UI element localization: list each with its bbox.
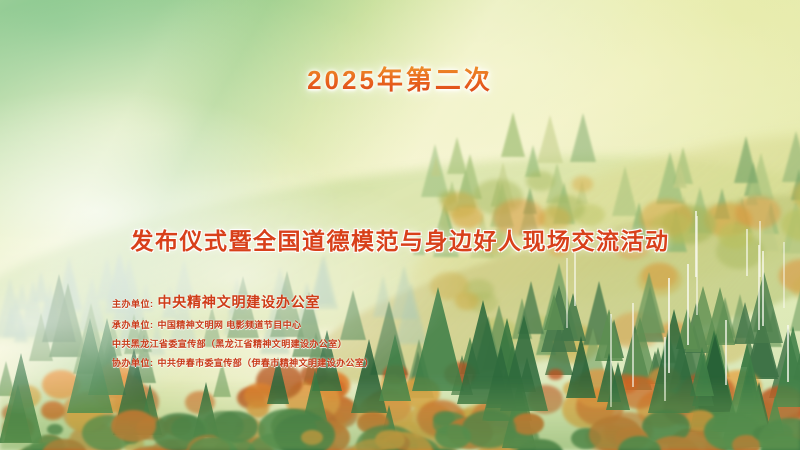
title-char: 国 [249, 101, 355, 188]
title-char: 中 [154, 97, 254, 189]
poster-text-content: 2025年第二次 中国好人榜 发布仪式暨全国道德模范与身边好人现场交流活动 主办… [0, 0, 800, 450]
credit-value: 中国精神文明网 电影频道节目中心 [158, 318, 302, 331]
event-subtitle: 发布仪式暨全国道德模范与身边好人现场交流活动 [0, 222, 800, 256]
credit-row: 协办单位:中共伊春市委宣传部（伊春市精神文明建设办公室） [112, 356, 374, 369]
credit-label: 承办单位: [112, 318, 154, 331]
credit-row: 主办单位:中央精神文明建设办公室 [112, 292, 374, 312]
title-char: 榜 [546, 85, 647, 176]
organizer-credits: 主办单位:中央精神文明建设办公室承办单位:中国精神文明网 电影频道节目中心中共黑… [112, 292, 374, 369]
title-char: 好 [349, 92, 451, 183]
poster-canvas: 2025年第二次 中国好人榜 发布仪式暨全国道德模范与身边好人现场交流活动 主办… [0, 0, 800, 450]
page-title: 中国好人榜 [0, 88, 800, 191]
credit-row: 承办单位:中国精神文明网 电影频道节目中心 [112, 318, 374, 331]
title-char: 人 [445, 95, 552, 182]
credit-row: 中共黑龙江省委宣传部（黑龙江省精神文明建设办公室） [112, 337, 374, 350]
credit-value: 中共伊春市委宣传部（伊春市精神文明建设办公室） [158, 356, 374, 369]
credit-label: 协办单位: [112, 356, 154, 369]
credit-value: 中共黑龙江省委宣传部（黑龙江省精神文明建设办公室） [112, 337, 347, 350]
credit-value: 中央精神文明建设办公室 [158, 292, 321, 312]
credit-label: 主办单位: [112, 297, 154, 310]
